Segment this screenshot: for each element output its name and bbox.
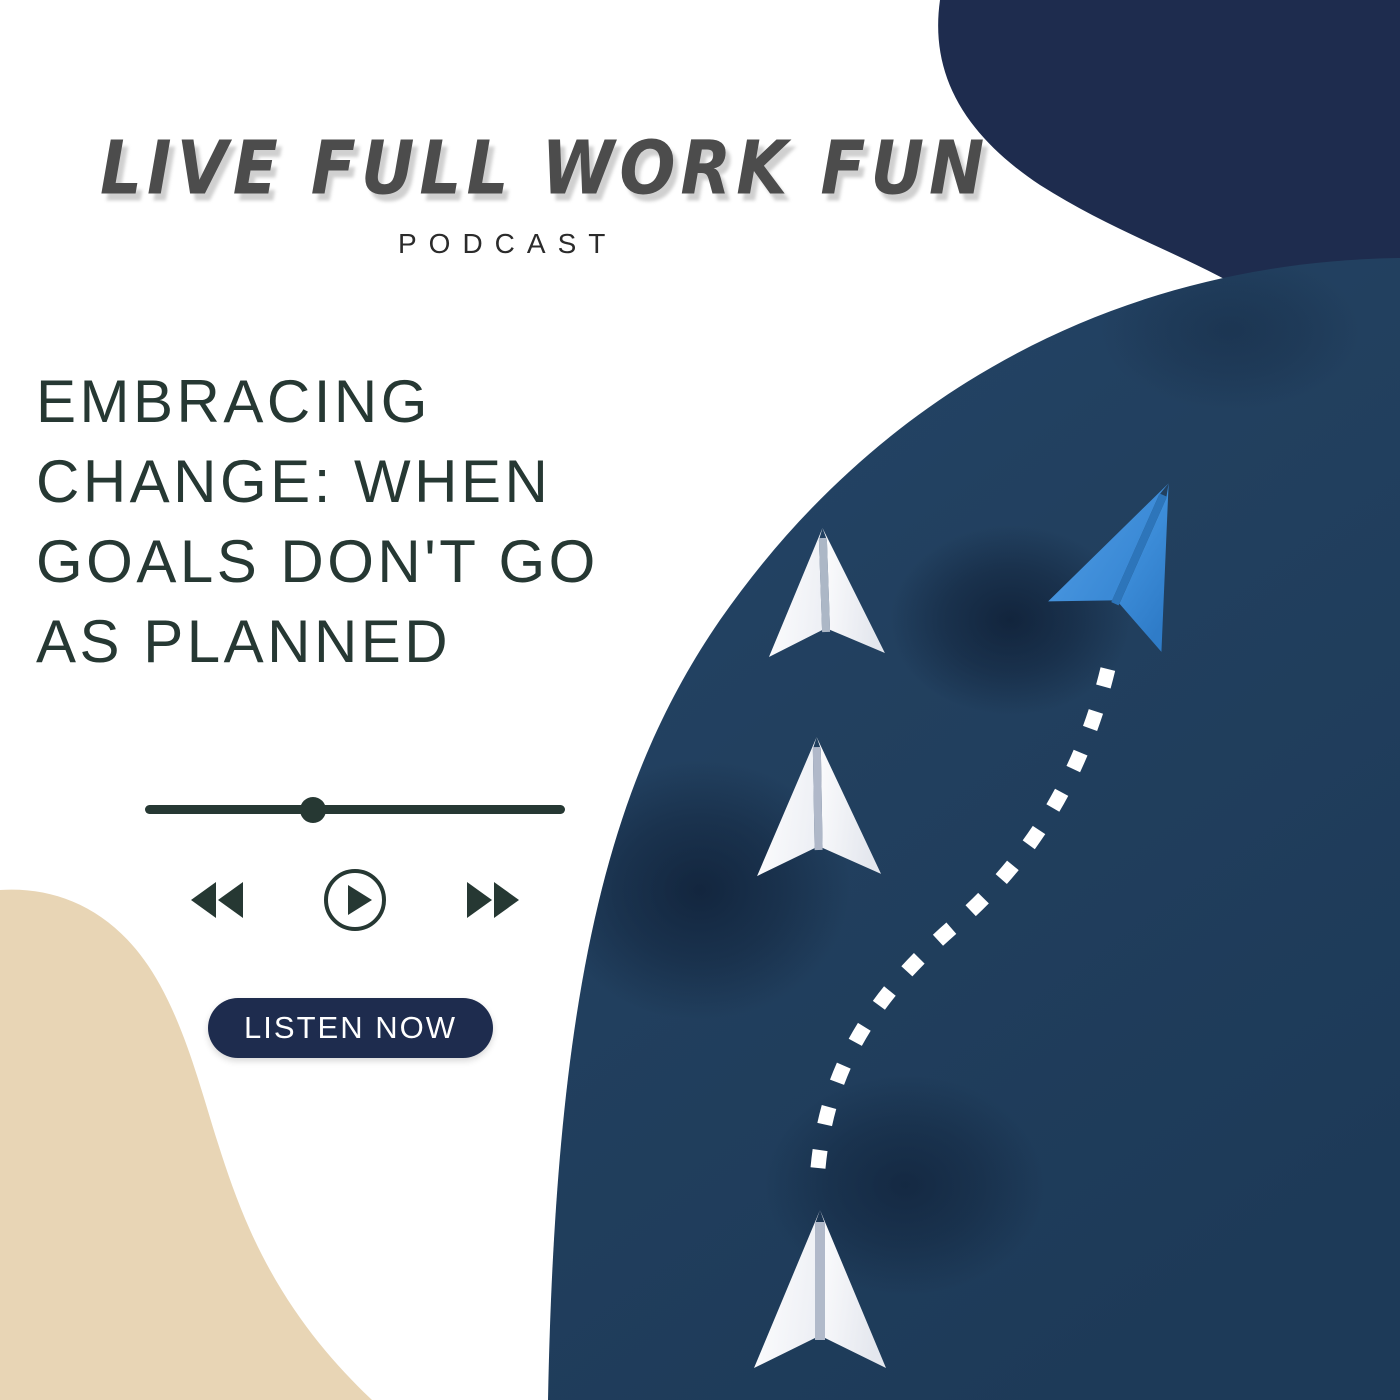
play-button[interactable] (322, 867, 388, 933)
brand-title: LIVE FULL WORK FUN (100, 132, 989, 206)
fast-forward-button[interactable] (462, 878, 524, 922)
progress-knob[interactable] (300, 797, 326, 823)
rewind-button[interactable] (186, 878, 248, 922)
content-column: LIVE FULL WORK FUN PODCAST EMBRACING CHA… (0, 0, 660, 1400)
listen-now-button[interactable]: LISTEN NOW (208, 998, 493, 1058)
progress-bar[interactable] (145, 805, 565, 814)
rewind-icon (186, 878, 248, 922)
brand-subtitle: PODCAST (398, 228, 617, 260)
podcast-cover: LIVE FULL WORK FUN PODCAST EMBRACING CHA… (0, 0, 1400, 1400)
play-icon (322, 867, 388, 933)
player-controls (145, 855, 565, 945)
fast-forward-icon (462, 878, 524, 922)
episode-title: EMBRACING CHANGE: WHEN GOALS DON'T GO AS… (36, 362, 656, 681)
audio-player (145, 805, 565, 814)
